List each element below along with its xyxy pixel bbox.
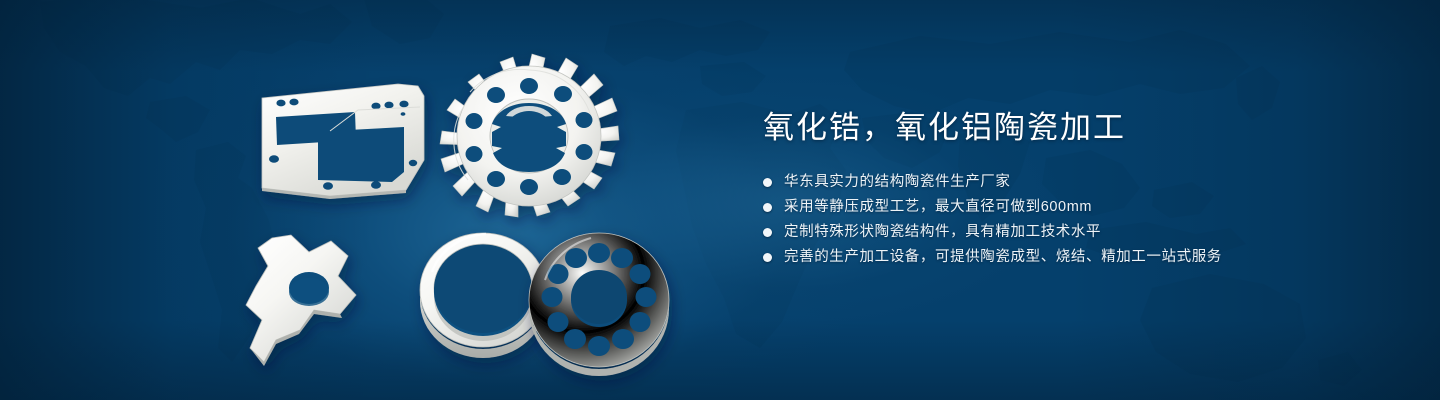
- list-item: 华东具实力的结构陶瓷件生产厂家: [763, 170, 1383, 195]
- product-ceramic-ring: [420, 233, 546, 358]
- product-ceramic-cross-plate: [246, 235, 356, 366]
- bullet-dot-icon: [763, 203, 772, 212]
- list-item: 采用等静压成型工艺，最大直径可做到600mm: [763, 195, 1383, 220]
- banner-feature-list: 华东具实力的结构陶瓷件生产厂家 采用等静压成型工艺，最大直径可做到600mm 定…: [763, 170, 1383, 270]
- product-ceramic-perforated-disc: [529, 233, 669, 376]
- list-item: 定制特殊形状陶瓷结构件，具有精加工技术水平: [763, 220, 1383, 245]
- bullet-dot-icon: [763, 253, 772, 262]
- bullet-dot-icon: [763, 178, 772, 187]
- bullet-text: 采用等静压成型工艺，最大直径可做到600mm: [784, 195, 1092, 220]
- product-hero-banner: 氧化锆，氧化铝陶瓷加工 华东具实力的结构陶瓷件生产厂家 采用等静压成型工艺，最大…: [0, 0, 1440, 400]
- product-ceramic-plate: [262, 84, 424, 199]
- banner-headline: 氧化锆，氧化铝陶瓷加工: [763, 108, 1383, 148]
- bullet-dot-icon: [763, 228, 772, 237]
- bullet-text: 华东具实力的结构陶瓷件生产厂家: [784, 170, 1011, 195]
- list-item: 完善的生产加工设备，可提供陶瓷成型、烧结、精加工一站式服务: [763, 245, 1383, 270]
- ceramic-products-group: [0, 0, 760, 400]
- bullet-text: 定制特殊形状陶瓷结构件，具有精加工技术水平: [784, 220, 1101, 245]
- bullet-text: 完善的生产加工设备，可提供陶瓷成型、烧结、精加工一站式服务: [784, 245, 1222, 270]
- product-ceramic-impeller: [440, 54, 619, 217]
- banner-copy-block: 氧化锆，氧化铝陶瓷加工 华东具实力的结构陶瓷件生产厂家 采用等静压成型工艺，最大…: [763, 108, 1383, 270]
